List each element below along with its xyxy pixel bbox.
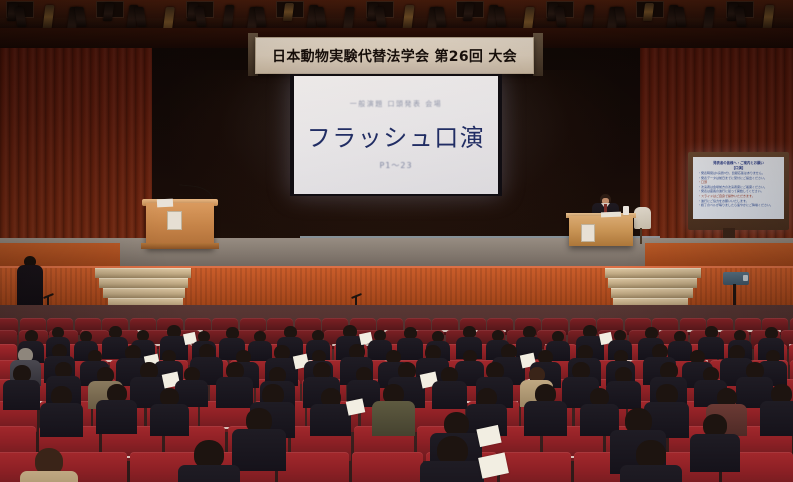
desk-papers [601, 212, 621, 218]
audience-member-body [760, 401, 793, 436]
stage-step [605, 268, 701, 278]
conference-banner: 日本動物実験代替法学会 第26回 大会 [255, 37, 534, 74]
banner-bracket-right [533, 33, 543, 76]
podium-papers [157, 199, 173, 208]
projection-screen: 一般演題 口頭発表 会場 フラッシュ口演 P1〜23 [294, 76, 498, 194]
audience-member-body [40, 403, 83, 437]
banner-title: 日本動物実験代替法学会 第26回 大会 [272, 46, 517, 66]
side-monitor-screen: 発表者の皆様へ・ご案内とお願い 【口演】 ・発表時間は1演題3分、質疑応答はあり… [693, 157, 784, 219]
vacant-chair-leg [640, 228, 642, 244]
audience-member-body [216, 377, 253, 408]
audience-member-body [3, 380, 40, 410]
audience-member-body [420, 461, 484, 482]
audience-member-body [690, 434, 740, 472]
stage-step [99, 278, 188, 288]
slide-range: P1〜23 [379, 160, 412, 171]
chairperson-desk [569, 216, 633, 246]
audience-member-body [372, 401, 415, 436]
monitor-line: ・終了のベルが鳴りましたら速やかにご降壇ください。 [698, 203, 779, 208]
standing-staff-body [17, 265, 43, 307]
audience-member-body [102, 337, 128, 359]
slide-title: フラッシュ口演 [307, 118, 486, 153]
auditorium-seat[interactable] [352, 452, 423, 482]
audience-member-body [20, 471, 78, 482]
auditorium-seat[interactable] [278, 452, 349, 482]
stage-curtain-right [640, 28, 793, 268]
slide-subtitle: 一般演題 口頭発表 会場 [350, 99, 442, 109]
stage-step [95, 268, 191, 278]
projector-lens-icon [743, 275, 748, 281]
audience-member-body [232, 429, 286, 471]
audience-member-body [96, 400, 137, 434]
stage-steps-right [605, 268, 701, 310]
stage-curtain-left [0, 28, 152, 268]
audience-member-body [620, 465, 682, 482]
audience-member-body [310, 404, 351, 436]
stage-step [611, 288, 693, 298]
audience-member-body [432, 381, 467, 409]
stage-step [608, 278, 697, 288]
vacant-chair [634, 207, 651, 229]
auditorium-seat[interactable] [500, 452, 571, 482]
stage-step [103, 288, 185, 298]
podium-sign [167, 211, 182, 230]
stage-steps-left [95, 268, 191, 310]
audience-member-body [150, 404, 189, 436]
audience-member-body [524, 401, 567, 436]
chairperson-sign [581, 224, 595, 242]
desk-cup [623, 206, 629, 215]
podium-base [141, 243, 219, 249]
monitor-body-lines: ・発表時間は1演題3分、質疑応答はありません。・発表データは前日までに受付にご提… [698, 171, 779, 208]
auditorium-scene: 日本動物実験代替法学会 第26回 大会 一般演題 口頭発表 会場 フラッシュ口演… [0, 0, 793, 482]
audience-member-body [178, 465, 240, 482]
